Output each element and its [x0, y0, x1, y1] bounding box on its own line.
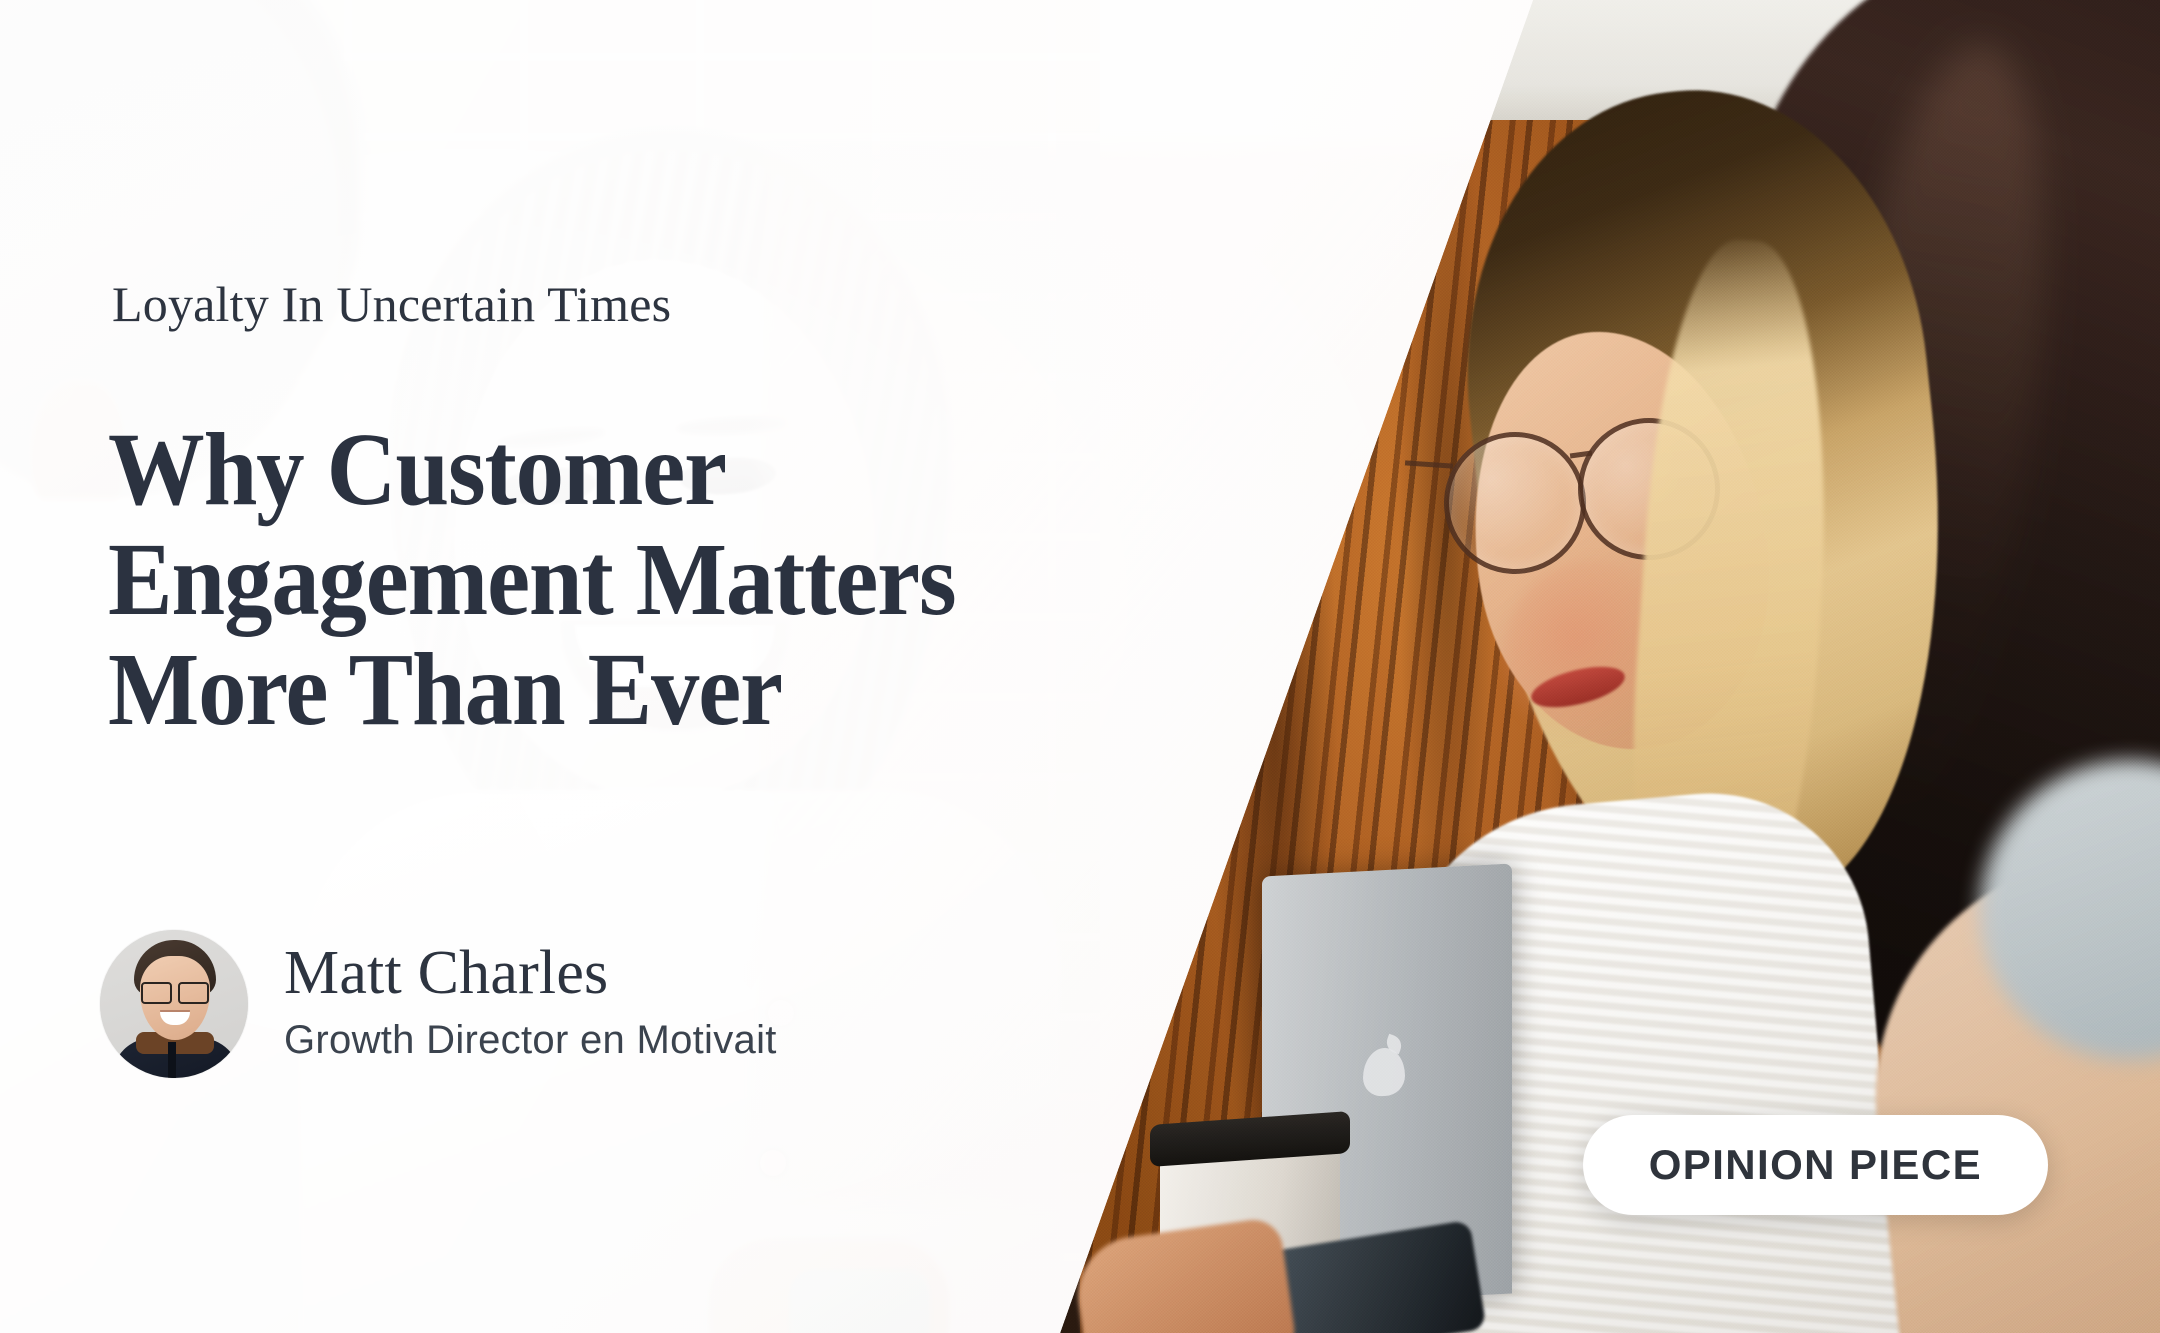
headline-line-3: More Than Ever — [108, 635, 1205, 745]
avatar — [100, 930, 248, 1078]
byline: Matt Charles Growth Director en Motivait — [100, 930, 777, 1078]
page-title: Why Customer Engagement Matters More Tha… — [108, 415, 1205, 746]
headline-line-1: Why Customer — [108, 415, 1205, 525]
author-role: Growth Director en Motivait — [284, 1013, 777, 1067]
byline-text: Matt Charles Growth Director en Motivait — [284, 941, 777, 1067]
avatar-glasses-icon — [141, 982, 209, 1000]
status-badge[interactable]: OPINION PIECE — [1583, 1115, 2048, 1215]
avatar-placket — [168, 1042, 176, 1078]
headline-line-2: Engagement Matters — [108, 525, 1205, 635]
article-hero-card: Loyalty In Uncertain Times Why Customer … — [0, 0, 2160, 1333]
author-name: Matt Charles — [284, 941, 777, 1007]
article-eyebrow: Loyalty In Uncertain Times — [112, 275, 671, 333]
hero-text-block: Loyalty In Uncertain Times Why Customer … — [112, 0, 1312, 1333]
